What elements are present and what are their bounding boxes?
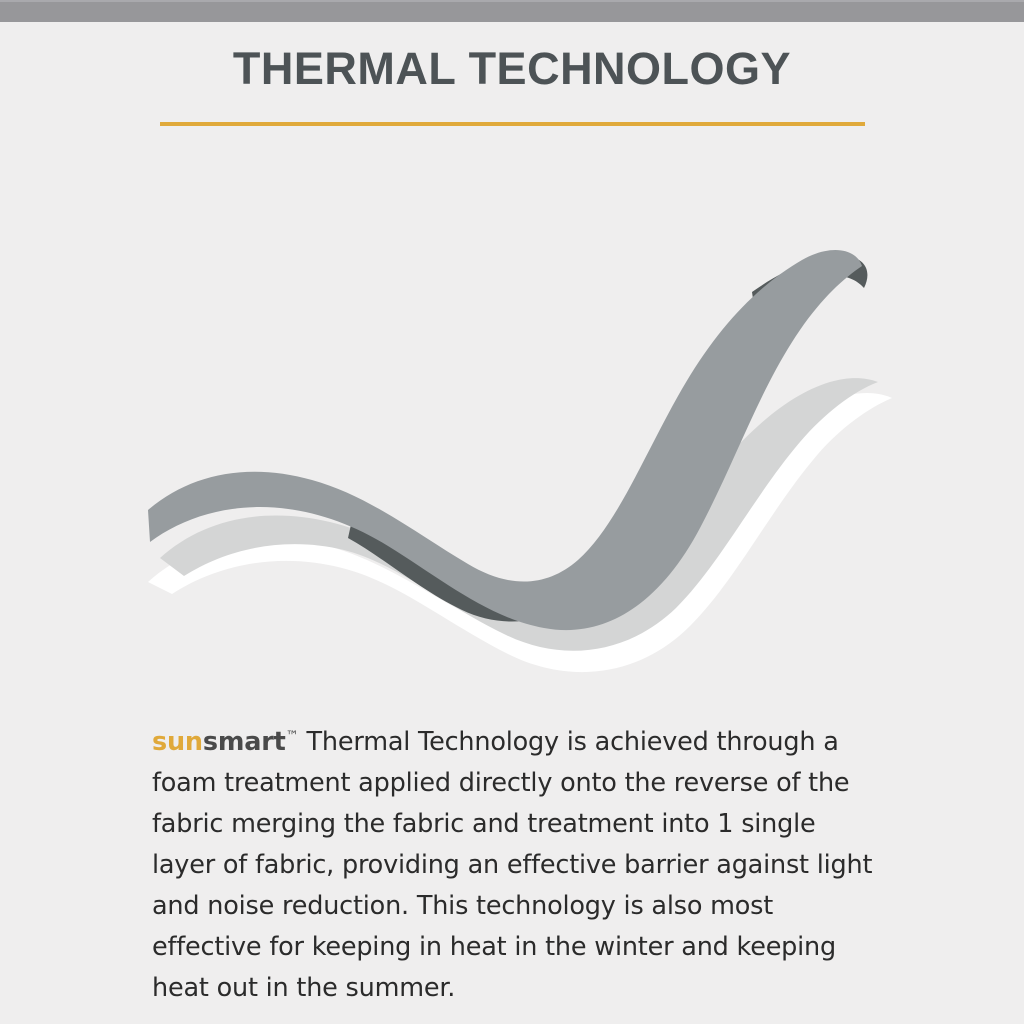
body-paragraph: sunsmart™ Thermal Technology is achieved… — [152, 716, 878, 1009]
brand-name-smart: smart — [203, 727, 286, 757]
top-chrome-bar — [0, 0, 1024, 22]
body-paragraph-text: Thermal Technology is achieved through a… — [152, 727, 872, 1003]
page-title: THERMAL TECHNOLOGY — [0, 44, 1024, 94]
page-canvas: THERMAL TECHNOLOGY sunsmart™ Thermal Tec… — [0, 22, 1024, 1024]
trademark-symbol: ™ — [286, 729, 299, 744]
brand-name-sun: sun — [152, 727, 203, 757]
fabric-swatch-graphic — [130, 192, 910, 682]
thermal-fabric-illustration — [130, 192, 910, 682]
title-underline-rule — [160, 122, 865, 126]
page-header: THERMAL TECHNOLOGY — [0, 44, 1024, 94]
